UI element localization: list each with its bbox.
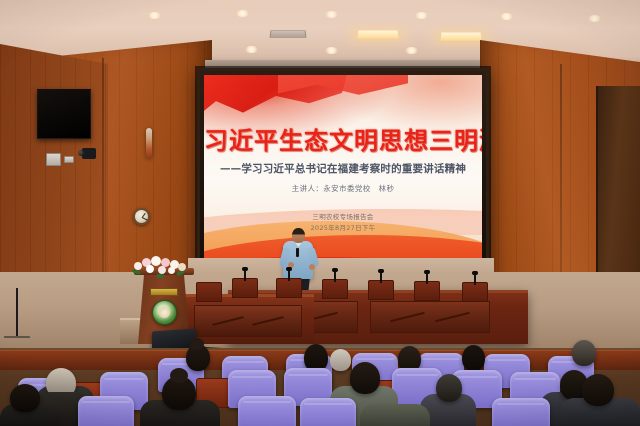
audience-seat[interactable] bbox=[300, 398, 356, 426]
wall-sconce-left bbox=[146, 128, 152, 158]
flower-bloom bbox=[151, 256, 161, 266]
table-microphone-icon bbox=[380, 272, 382, 283]
wall-speaker-left bbox=[37, 89, 91, 139]
flower-bloom bbox=[134, 262, 142, 270]
stage-chair[interactable] bbox=[232, 278, 258, 298]
audience-head bbox=[462, 345, 485, 371]
stage-chair[interactable] bbox=[276, 278, 302, 298]
microphone-stand bbox=[16, 288, 18, 336]
downlight bbox=[245, 46, 258, 53]
flower-bloom bbox=[146, 265, 154, 273]
table-front-panel bbox=[194, 305, 302, 337]
wall-outlet-left bbox=[64, 156, 74, 163]
led-screen-display: 习近平生态文明思想三明溯源 ——学习习近平总书记在福建考察时的重要讲话精神 主讲… bbox=[204, 75, 482, 265]
audience-head bbox=[10, 384, 40, 412]
presenter-right-hand bbox=[309, 264, 315, 270]
audience-hair-bun bbox=[170, 368, 188, 383]
podium-nameplate bbox=[150, 288, 178, 296]
flower-leaf bbox=[156, 274, 165, 279]
ceiling-vent bbox=[270, 30, 307, 37]
stage-chair[interactable] bbox=[322, 279, 348, 299]
downlight bbox=[405, 47, 418, 54]
audience-seat[interactable] bbox=[238, 396, 296, 426]
audience-hair-bun bbox=[190, 338, 204, 350]
table-microphone-icon bbox=[474, 274, 476, 285]
ceiling-panel-light bbox=[357, 31, 398, 39]
table-microphone-icon bbox=[288, 270, 290, 281]
downlight bbox=[415, 12, 428, 19]
presenter-head bbox=[292, 228, 305, 243]
table-front-panel bbox=[370, 301, 490, 333]
audience-seat[interactable] bbox=[78, 396, 134, 426]
audience-head bbox=[436, 374, 462, 402]
wall-plate-left bbox=[46, 153, 61, 166]
audience-head bbox=[572, 340, 596, 366]
table-microphone-icon bbox=[244, 270, 246, 281]
stage-chair[interactable] bbox=[196, 282, 222, 302]
flower-bloom bbox=[168, 267, 175, 274]
slide-presenter-line: 主讲人：永安市委党校 林秒 bbox=[204, 183, 482, 194]
stage-chair[interactable] bbox=[462, 282, 488, 302]
slide-subtitle: ——学习习近平总书记在福建考察时的重要讲话精神 bbox=[204, 161, 482, 176]
audience-head bbox=[330, 349, 351, 371]
table-microphone-icon bbox=[426, 273, 428, 284]
audience-shoulders bbox=[360, 404, 430, 426]
audience-head bbox=[582, 374, 614, 406]
flower-bloom bbox=[178, 263, 186, 271]
led-screen-frame: 习近平生态文明思想三明溯源 ——学习习近平总书记在福建考察时的重要讲话精神 主讲… bbox=[197, 68, 489, 272]
ceiling-panel-light bbox=[440, 33, 481, 41]
wall-clock-left bbox=[133, 208, 150, 225]
flower-bloom bbox=[158, 266, 166, 274]
downlight bbox=[148, 12, 161, 19]
downlight bbox=[588, 15, 601, 22]
downlight bbox=[325, 47, 338, 54]
table-microphone-icon bbox=[334, 271, 336, 282]
downlight bbox=[236, 10, 249, 17]
security-camera-icon bbox=[82, 148, 96, 159]
audience-seat[interactable] bbox=[492, 398, 550, 426]
stage-chair[interactable] bbox=[368, 280, 394, 300]
microphone-icon bbox=[296, 248, 299, 257]
slide-date-line: 2025年8月27日下午 bbox=[204, 222, 482, 232]
slide-venue-line: 三明农校专场报告会 bbox=[204, 211, 482, 221]
downlight bbox=[500, 13, 513, 20]
slide-title: 习近平生态文明思想三明溯源 bbox=[204, 121, 482, 156]
stage-chair[interactable] bbox=[414, 281, 440, 301]
flower-arrangement bbox=[130, 252, 192, 278]
downlight bbox=[325, 11, 338, 18]
lecture-hall-photo: 习近平生态文明思想三明溯源 ——学习习近平总书记在福建考察时的重要讲话精神 主讲… bbox=[0, 0, 640, 426]
school-emblem-icon bbox=[152, 300, 177, 325]
audience-head bbox=[350, 362, 380, 394]
